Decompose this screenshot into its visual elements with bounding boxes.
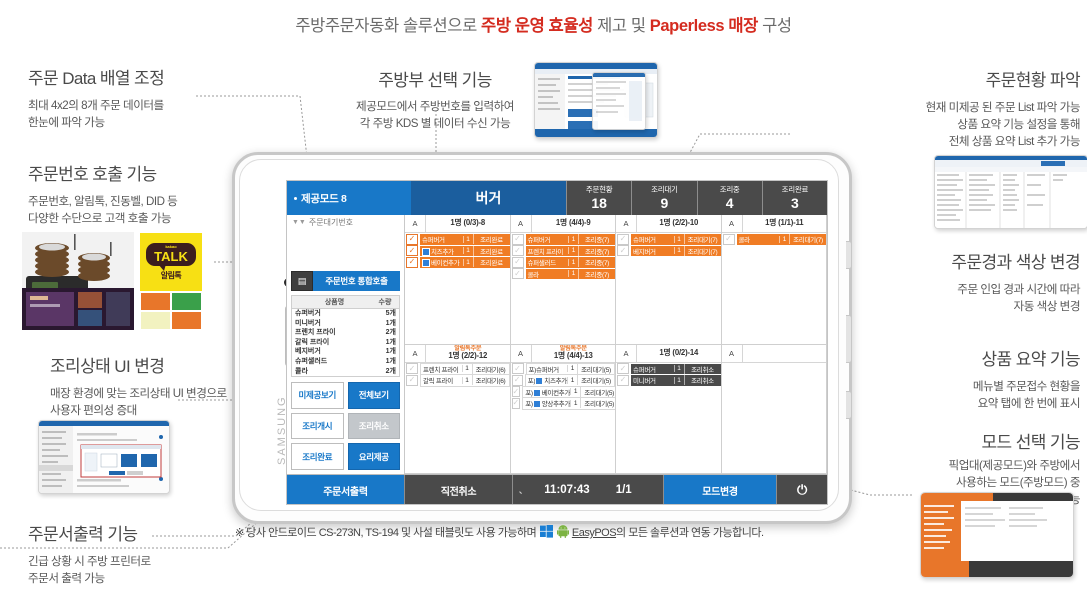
order-item-qty: 1	[462, 365, 472, 372]
finish-cooking-button[interactable]: 조리완료	[291, 443, 344, 470]
order-item[interactable]: 슈퍼버거1조리취소	[631, 364, 721, 375]
order-item-status: 조리중(7)	[578, 234, 615, 244]
stat-label: 조리중	[720, 186, 740, 194]
footnote-text1: ※ 당사 안드로이드 CS-273N, TS-194 및 사설 태블릿도 사용 …	[235, 527, 539, 539]
summary-header-name: 상품명	[295, 297, 374, 307]
order-item-name: 베지버거	[631, 246, 674, 256]
change-mode-button[interactable]: 모드변경	[664, 475, 777, 505]
order-cell[interactable]: A1명 (1/1)-11✓콜라1조리대기(7)	[722, 215, 828, 345]
order-item-row[interactable]: ✓콜라1조리중(7)	[511, 269, 616, 280]
order-item-qty: 1	[568, 270, 578, 277]
order-item-name: 포)치즈추가	[526, 375, 567, 385]
checkmark-icon[interactable]: ✓	[512, 234, 524, 245]
order-item-name: 슈퍼버거	[631, 364, 674, 374]
order-item-status: 조리대기(7)	[684, 234, 721, 244]
order-item-row[interactable]: ✓포)치즈추가1조리대기(5)	[511, 375, 616, 386]
order-item-status: 조리대기(7)	[684, 246, 721, 256]
order-cell-header: A	[722, 345, 827, 363]
tablet-side-button-top[interactable]	[846, 241, 852, 269]
tablet-side-button-mid[interactable]	[846, 315, 852, 363]
option-square-icon	[535, 377, 543, 385]
checkmark-icon[interactable]: ✓	[512, 268, 524, 279]
summary-row-name: 슈퍼샐러드	[295, 357, 374, 367]
summary-row-qty: 1개	[374, 347, 396, 357]
kds-action-buttons: 미제공보기 전체보기 조리개시 조리취소 조리완료 요리제공	[291, 382, 400, 470]
order-cell-header: A알림톡주문1명 (4/4)-13	[511, 345, 616, 363]
stat-value: 4	[726, 196, 734, 210]
summary-row-name: 콜라	[295, 367, 374, 377]
serve-dish-button[interactable]: 요리제공	[348, 443, 401, 470]
order-column-label: A	[511, 215, 532, 232]
option-square-icon	[533, 400, 541, 408]
order-column-label: A	[511, 345, 532, 362]
order-item[interactable]: 베이컨추가1조리완료	[420, 257, 510, 268]
order-item-qty: 1	[568, 259, 578, 266]
order-item[interactable]: 콜라1조리중(7)	[526, 269, 616, 280]
summary-row-qty: 1개	[374, 319, 396, 329]
tablet-bezel: SAMSUNG 제공모드 8 버거 주문현황 18 조리대기 9	[239, 159, 839, 511]
order-item-name: 슈퍼버거	[420, 234, 463, 244]
summary-row-name: 프렌치 프라이	[295, 328, 374, 338]
button-row: 미제공보기 전체보기	[291, 382, 400, 409]
checkmark-icon[interactable]: ✓	[512, 398, 521, 409]
checkmark-icon[interactable]: ✓	[512, 245, 524, 256]
summary-row: 베지버거 1개	[292, 347, 399, 357]
order-item-qty: 1	[570, 400, 580, 407]
stat-cook-done[interactable]: 조리완료 3	[762, 181, 827, 215]
order-item-status: 조리대기(5)	[580, 387, 616, 397]
summary-row-name: 슈퍼버거	[295, 309, 374, 319]
order-item[interactable]: 포)양상추추가1조리대기(5)	[522, 397, 616, 410]
option-square-icon	[422, 248, 430, 256]
order-item-row[interactable]: ✓프렌치 프라이1조리중(7)	[511, 246, 616, 257]
summary-row-name: 베지버거	[295, 347, 374, 357]
order-item-qty: 1	[463, 247, 473, 254]
mode-dot-icon	[294, 197, 297, 200]
order-cell[interactable]: A알림톡주문1명 (2/2)-12✓프렌치 프라이1조리대기(6)✓갈릭 프라이…	[405, 345, 511, 475]
order-item-list: ✓콜라1조리대기(7)	[722, 233, 827, 344]
checkmark-icon[interactable]: ✓	[512, 363, 524, 374]
order-item-status: 조리대기(5)	[577, 375, 614, 385]
order-item-row[interactable]: ✓베이컨추가1조리완료	[405, 257, 510, 268]
order-item-status: 조리중(7)	[578, 246, 615, 256]
order-column-label: A	[616, 345, 637, 362]
kds-side-panel: ▼▼ 주문대기번호 ▤ 주문번호 통합호출 상품명 수량	[287, 215, 405, 474]
order-column-label: A	[616, 215, 637, 232]
order-item-name: 치즈추가	[420, 246, 463, 256]
checkmark-icon[interactable]: ✓	[406, 234, 418, 245]
order-item-status: 조리중(7)	[578, 269, 615, 279]
mode-indicator[interactable]: 제공모드 8	[287, 181, 411, 215]
order-item-row[interactable]: ✓슈퍼버거1조리중(7)	[511, 234, 616, 245]
summary-row: 갈릭 프라이 1개	[292, 338, 399, 348]
order-item-status: 조리대기(7)	[789, 234, 826, 244]
order-cell[interactable]: A1명 (0/3)-8✓슈퍼버거1조리완료✓치즈추가1조리완료✓베이컨추가1조리…	[405, 215, 511, 345]
order-item-row[interactable]: ✓치즈추가1조리완료	[405, 246, 510, 257]
stat-label: 조리완료	[782, 186, 808, 194]
order-item-name: 슈퍼버거	[526, 234, 569, 244]
integrated-call-button[interactable]: 주문번호 통합호출	[313, 271, 400, 291]
order-item-status: 조리완료	[473, 257, 510, 267]
stat-label: 조리대기	[651, 186, 677, 194]
summary-row: 미니버거 1개	[292, 319, 399, 329]
order-column-label: A	[722, 345, 743, 362]
summary-header-qty: 수량	[374, 297, 396, 307]
order-cell[interactable]: A	[722, 345, 828, 475]
order-item-status: 조리취소	[684, 364, 721, 374]
summary-row: 프렌치 프라이 2개	[292, 328, 399, 338]
order-item[interactable]: 갈릭 프라이1조리대기(6)	[420, 374, 510, 387]
order-item[interactable]: 프렌치 프라이1조리중(7)	[526, 246, 616, 257]
call-row: ▤ 주문번호 통합호출	[291, 271, 400, 291]
order-item-name: 포)슈퍼버거	[527, 364, 568, 374]
kds-screen-title: 버거	[411, 181, 566, 215]
order-item-name: 슈퍼샐러드	[526, 257, 569, 267]
order-item-name: 콜라	[737, 234, 780, 244]
order-title-wrap: 알림톡주문1명 (2/2)-12	[426, 345, 510, 362]
order-title-wrap: 1명 (1/1)-11	[743, 215, 827, 232]
order-title: 1명 (1/1)-11	[765, 219, 803, 228]
order-item-name: 포)베이컨추가	[523, 387, 570, 397]
order-item-status: 조리완료	[473, 246, 510, 256]
order-item[interactable]: 슈퍼버거1조리대기(7)	[631, 234, 721, 245]
start-cooking-button[interactable]: 조리개시	[291, 413, 344, 440]
order-item-row[interactable]: ✓포)양상추추가1조리대기(5)	[511, 398, 616, 409]
show-all-button[interactable]: 전체보기	[348, 382, 401, 409]
print-order-button[interactable]: 주문서출력	[287, 475, 405, 505]
order-item-qty: 1	[674, 247, 684, 254]
waiting-number-text: 주문대기번호	[309, 217, 353, 228]
order-item-status: 조리대기(6)	[472, 375, 509, 385]
order-item-name: 갈릭 프라이	[421, 375, 462, 385]
kds-body: ▼▼ 주문대기번호 ▤ 주문번호 통합호출 상품명 수량	[287, 215, 827, 474]
order-item[interactable]: 콜라1조리대기(7)	[737, 234, 827, 245]
order-cell[interactable]: A알림톡주문1명 (4/4)-13✓포)슈퍼버거1조리대기(5)✓포)치즈추가1…	[511, 345, 617, 475]
order-column-label: A	[405, 345, 426, 362]
order-item-list: ✓슈퍼버거1조리취소✓미니버거1조리취소	[616, 363, 721, 474]
cancel-cooking-button[interactable]: 조리취소	[348, 413, 401, 440]
stat-label: 주문현황	[586, 186, 612, 194]
order-item-status: 조리완료	[473, 234, 510, 244]
order-item-row[interactable]: ✓콜라1조리대기(7)	[722, 234, 827, 245]
waiting-number-label: ▼▼ 주문대기번호	[287, 215, 404, 229]
page-indicator: 1/1	[616, 484, 632, 496]
order-item-qty: 1	[463, 259, 473, 266]
order-title-wrap	[743, 345, 827, 362]
tablet-device: SAMSUNG 제공모드 8 버거 주문현황 18 조리대기 9	[232, 152, 852, 524]
filter-icon: ▼▼	[292, 219, 306, 226]
order-cell-header: A알림톡주문1명 (2/2)-12	[405, 345, 510, 363]
order-title-wrap: 1명 (4/4)-9	[532, 215, 616, 232]
order-item-row[interactable]: ✓베지버거1조리대기(7)	[616, 246, 721, 257]
order-item-qty: 1	[567, 365, 577, 372]
keypad-icon[interactable]: ▤	[291, 271, 313, 291]
order-grid: A1명 (0/3)-8✓슈퍼버거1조리완료✓치즈추가1조리완료✓베이컨추가1조리…	[405, 215, 827, 474]
order-title: 1명 (2/2)-12	[448, 352, 487, 361]
order-item-list: ✓포)슈퍼버거1조리대기(5)✓포)치즈추가1조리대기(5)✓포)베이컨추가1조…	[511, 363, 616, 474]
order-item-qty: 1	[568, 236, 578, 243]
stat-cooking[interactable]: 조리중 4	[697, 181, 762, 215]
order-title: 1명 (2/2)-10	[659, 219, 698, 228]
order-item-status: 조리대기(5)	[577, 364, 614, 374]
checkmark-icon[interactable]: ✓	[406, 257, 418, 268]
show-unserved-button[interactable]: 미제공보기	[291, 382, 344, 409]
current-time: 11:07:43	[544, 484, 589, 496]
order-item-qty: 1	[779, 236, 789, 243]
order-item-list	[722, 363, 827, 474]
checkmark-icon[interactable]: ✓	[406, 363, 418, 374]
order-cell[interactable]: A1명 (4/4)-9✓슈퍼버거1조리중(7)✓프렌치 프라이1조리중(7)✓슈…	[511, 215, 617, 345]
checkmark-icon[interactable]: ✓	[617, 245, 629, 256]
checkmark-icon[interactable]: ✓	[406, 375, 418, 386]
checkmark-icon[interactable]: ✓	[723, 234, 735, 245]
order-item-name: 슈퍼버거	[631, 234, 674, 244]
checkmark-icon[interactable]: ✓	[512, 375, 523, 386]
order-item-list: ✓슈퍼버거1조리대기(7)✓베지버거1조리대기(7)	[616, 233, 721, 344]
order-item-status: 조리취소	[684, 375, 721, 385]
order-item-list: ✓프렌치 프라이1조리대기(6)✓갈릭 프라이1조리대기(6)	[405, 363, 510, 474]
order-item-status: 조리대기(6)	[472, 364, 509, 374]
order-item-name: 프렌치 프라이	[526, 246, 569, 256]
order-item[interactable]: 치즈추가1조리완료	[420, 246, 510, 257]
order-item-status: 조리중(7)	[578, 257, 615, 267]
power-icon[interactable]: ⏻	[777, 475, 827, 505]
mode-label: 제공모드 8	[301, 191, 347, 206]
order-column-label: A	[722, 215, 743, 232]
kds-bottom-bar: 주문서출력 직전취소 、 11:07:43 1/1 모드변경 ⏻	[287, 474, 827, 505]
button-row: 조리완료 요리제공	[291, 443, 400, 470]
checkmark-icon[interactable]: ✓	[617, 234, 629, 245]
order-item[interactable]: 슈퍼버거1조리중(7)	[526, 234, 616, 245]
waiting-number-area	[287, 229, 404, 271]
footnote-text2: 의 모든 솔루션과 연동 가능합니다.	[616, 527, 763, 539]
stat-cook-waiting[interactable]: 조리대기 9	[631, 181, 696, 215]
order-item-qty: 1	[674, 365, 684, 372]
order-item-name: 프렌치 프라이	[421, 364, 462, 374]
summary-row-qty: 2개	[374, 328, 396, 338]
checkmark-icon[interactable]: ✓	[512, 257, 524, 268]
order-item[interactable]: 미니버거1조리취소	[631, 375, 721, 386]
order-title-wrap: 1명 (0/2)-14	[637, 345, 721, 362]
order-item-row[interactable]: ✓슈퍼버거1조리대기(7)	[616, 234, 721, 245]
order-item-row[interactable]: ✓슈퍼버거1조리취소	[616, 364, 721, 375]
order-title: 1명 (0/2)-14	[659, 349, 698, 358]
order-item-row[interactable]: ✓포)베이컨추가1조리대기(5)	[511, 387, 616, 398]
order-item-qty: 1	[674, 236, 684, 243]
order-item[interactable]: 슈퍼버거1조리완료	[420, 234, 510, 245]
order-item-row[interactable]: ✓프렌치 프라이1조리대기(6)	[405, 364, 510, 375]
summary-row-qty: 1개	[374, 357, 396, 367]
order-item-row[interactable]: ✓미니버거1조리취소	[616, 375, 721, 386]
kds-top-bar: 제공모드 8 버거 주문현황 18 조리대기 9 조리중 4 조리완료 3	[287, 181, 827, 215]
order-cell[interactable]: A1명 (2/2)-10✓슈퍼버거1조리대기(7)✓베지버거1조리대기(7)	[616, 215, 722, 345]
button-row: 조리개시 조리취소	[291, 413, 400, 440]
summary-row-name: 미니버거	[295, 319, 374, 329]
order-title-wrap: 1명 (0/3)-8	[426, 215, 510, 232]
order-title: 1명 (0/3)-8	[450, 219, 485, 228]
order-item-row[interactable]: ✓슈퍼버거1조리완료	[405, 234, 510, 245]
order-title-wrap: 알림톡주문1명 (4/4)-13	[532, 345, 616, 362]
option-square-icon	[533, 389, 541, 397]
order-cell[interactable]: A1명 (0/2)-14✓슈퍼버거1조리취소✓미니버거1조리취소	[616, 345, 722, 475]
order-cell-header: A1명 (0/2)-14	[616, 345, 721, 363]
summary-row: 콜라 2개	[292, 367, 399, 377]
checkmark-icon[interactable]: ✓	[617, 363, 629, 374]
order-cell-header: A1명 (0/3)-8	[405, 215, 510, 233]
footnote-brand: EasyPOS	[572, 527, 616, 539]
stat-value: 9	[660, 196, 668, 210]
order-item[interactable]: 슈퍼샐러드1조리중(7)	[526, 257, 616, 268]
checkmark-icon[interactable]: ✓	[406, 245, 418, 256]
order-title: 1명 (4/4)-9	[556, 219, 591, 228]
order-item-name: 베이컨추가	[420, 257, 463, 267]
order-item-name: 포)양상추추가	[523, 398, 570, 408]
order-item-row[interactable]: ✓갈릭 프라이1조리대기(6)	[405, 375, 510, 386]
order-item-row[interactable]: ✓포)슈퍼버거1조리대기(5)	[511, 364, 616, 375]
footnote: ※ 당사 안드로이드 CS-273N, TS-194 및 사설 태블릿도 사용 …	[235, 524, 764, 540]
order-title-wrap: 1명 (2/2)-10	[637, 215, 721, 232]
summary-row-name: 갈릭 프라이	[295, 338, 374, 348]
summary-row: 슈퍼버거 5개	[292, 309, 399, 319]
order-cell-header: A1명 (2/2)-10	[616, 215, 721, 233]
order-item-name: 미니버거	[631, 375, 674, 385]
order-column-label: A	[405, 215, 426, 232]
order-item-row[interactable]: ✓슈퍼샐러드1조리중(7)	[511, 257, 616, 268]
summary-row-qty: 5개	[374, 309, 396, 319]
order-item-qty: 1	[462, 377, 472, 384]
order-item[interactable]: 베지버거1조리대기(7)	[631, 246, 721, 257]
clock-and-pager: 、 11:07:43 1/1	[513, 475, 664, 505]
order-title: 1명 (4/4)-13	[554, 352, 593, 361]
summary-row: 슈퍼샐러드 1개	[292, 357, 399, 367]
order-item-qty: 1	[570, 388, 580, 395]
order-item-status: 조리대기(5)	[580, 398, 616, 408]
tablet-side-button-bottom[interactable]	[846, 391, 852, 419]
summary-row-qty: 2개	[374, 367, 396, 377]
order-item-list: ✓슈퍼버거1조리중(7)✓프렌치 프라이1조리중(7)✓슈퍼샐러드1조리중(7)…	[511, 233, 616, 344]
order-item-qty: 1	[674, 377, 684, 384]
option-square-icon	[422, 259, 430, 267]
summary-row-qty: 1개	[374, 338, 396, 348]
windows-icon	[540, 525, 553, 538]
android-icon	[557, 525, 569, 538]
order-item-qty: 1	[463, 236, 473, 243]
checkmark-icon[interactable]: ✓	[512, 386, 521, 397]
order-cell-header: A1명 (4/4)-9	[511, 215, 616, 233]
stat-value: 3	[791, 196, 799, 210]
summary-header-row: 상품명 수량	[292, 296, 399, 309]
stat-value: 18	[591, 196, 607, 210]
kds-screen: 제공모드 8 버거 주문현황 18 조리대기 9 조리중 4 조리완료 3	[286, 180, 828, 505]
product-summary-table: 상품명 수량 슈퍼버거 5개 미니버거 1개 프렌치 프라이	[291, 295, 400, 377]
order-item-name: 콜라	[526, 269, 569, 279]
order-item-list: ✓슈퍼버거1조리완료✓치즈추가1조리완료✓베이컨추가1조리완료	[405, 233, 510, 344]
undo-button[interactable]: 직전취소	[405, 475, 513, 505]
order-item-qty: 1	[568, 247, 578, 254]
checkmark-icon[interactable]: ✓	[617, 375, 629, 386]
tick-icon: 、	[519, 485, 527, 496]
order-cell-header: A1명 (1/1)-11	[722, 215, 827, 233]
stat-order-status[interactable]: 주문현황 18	[566, 181, 631, 215]
order-item-qty: 1	[567, 377, 577, 384]
